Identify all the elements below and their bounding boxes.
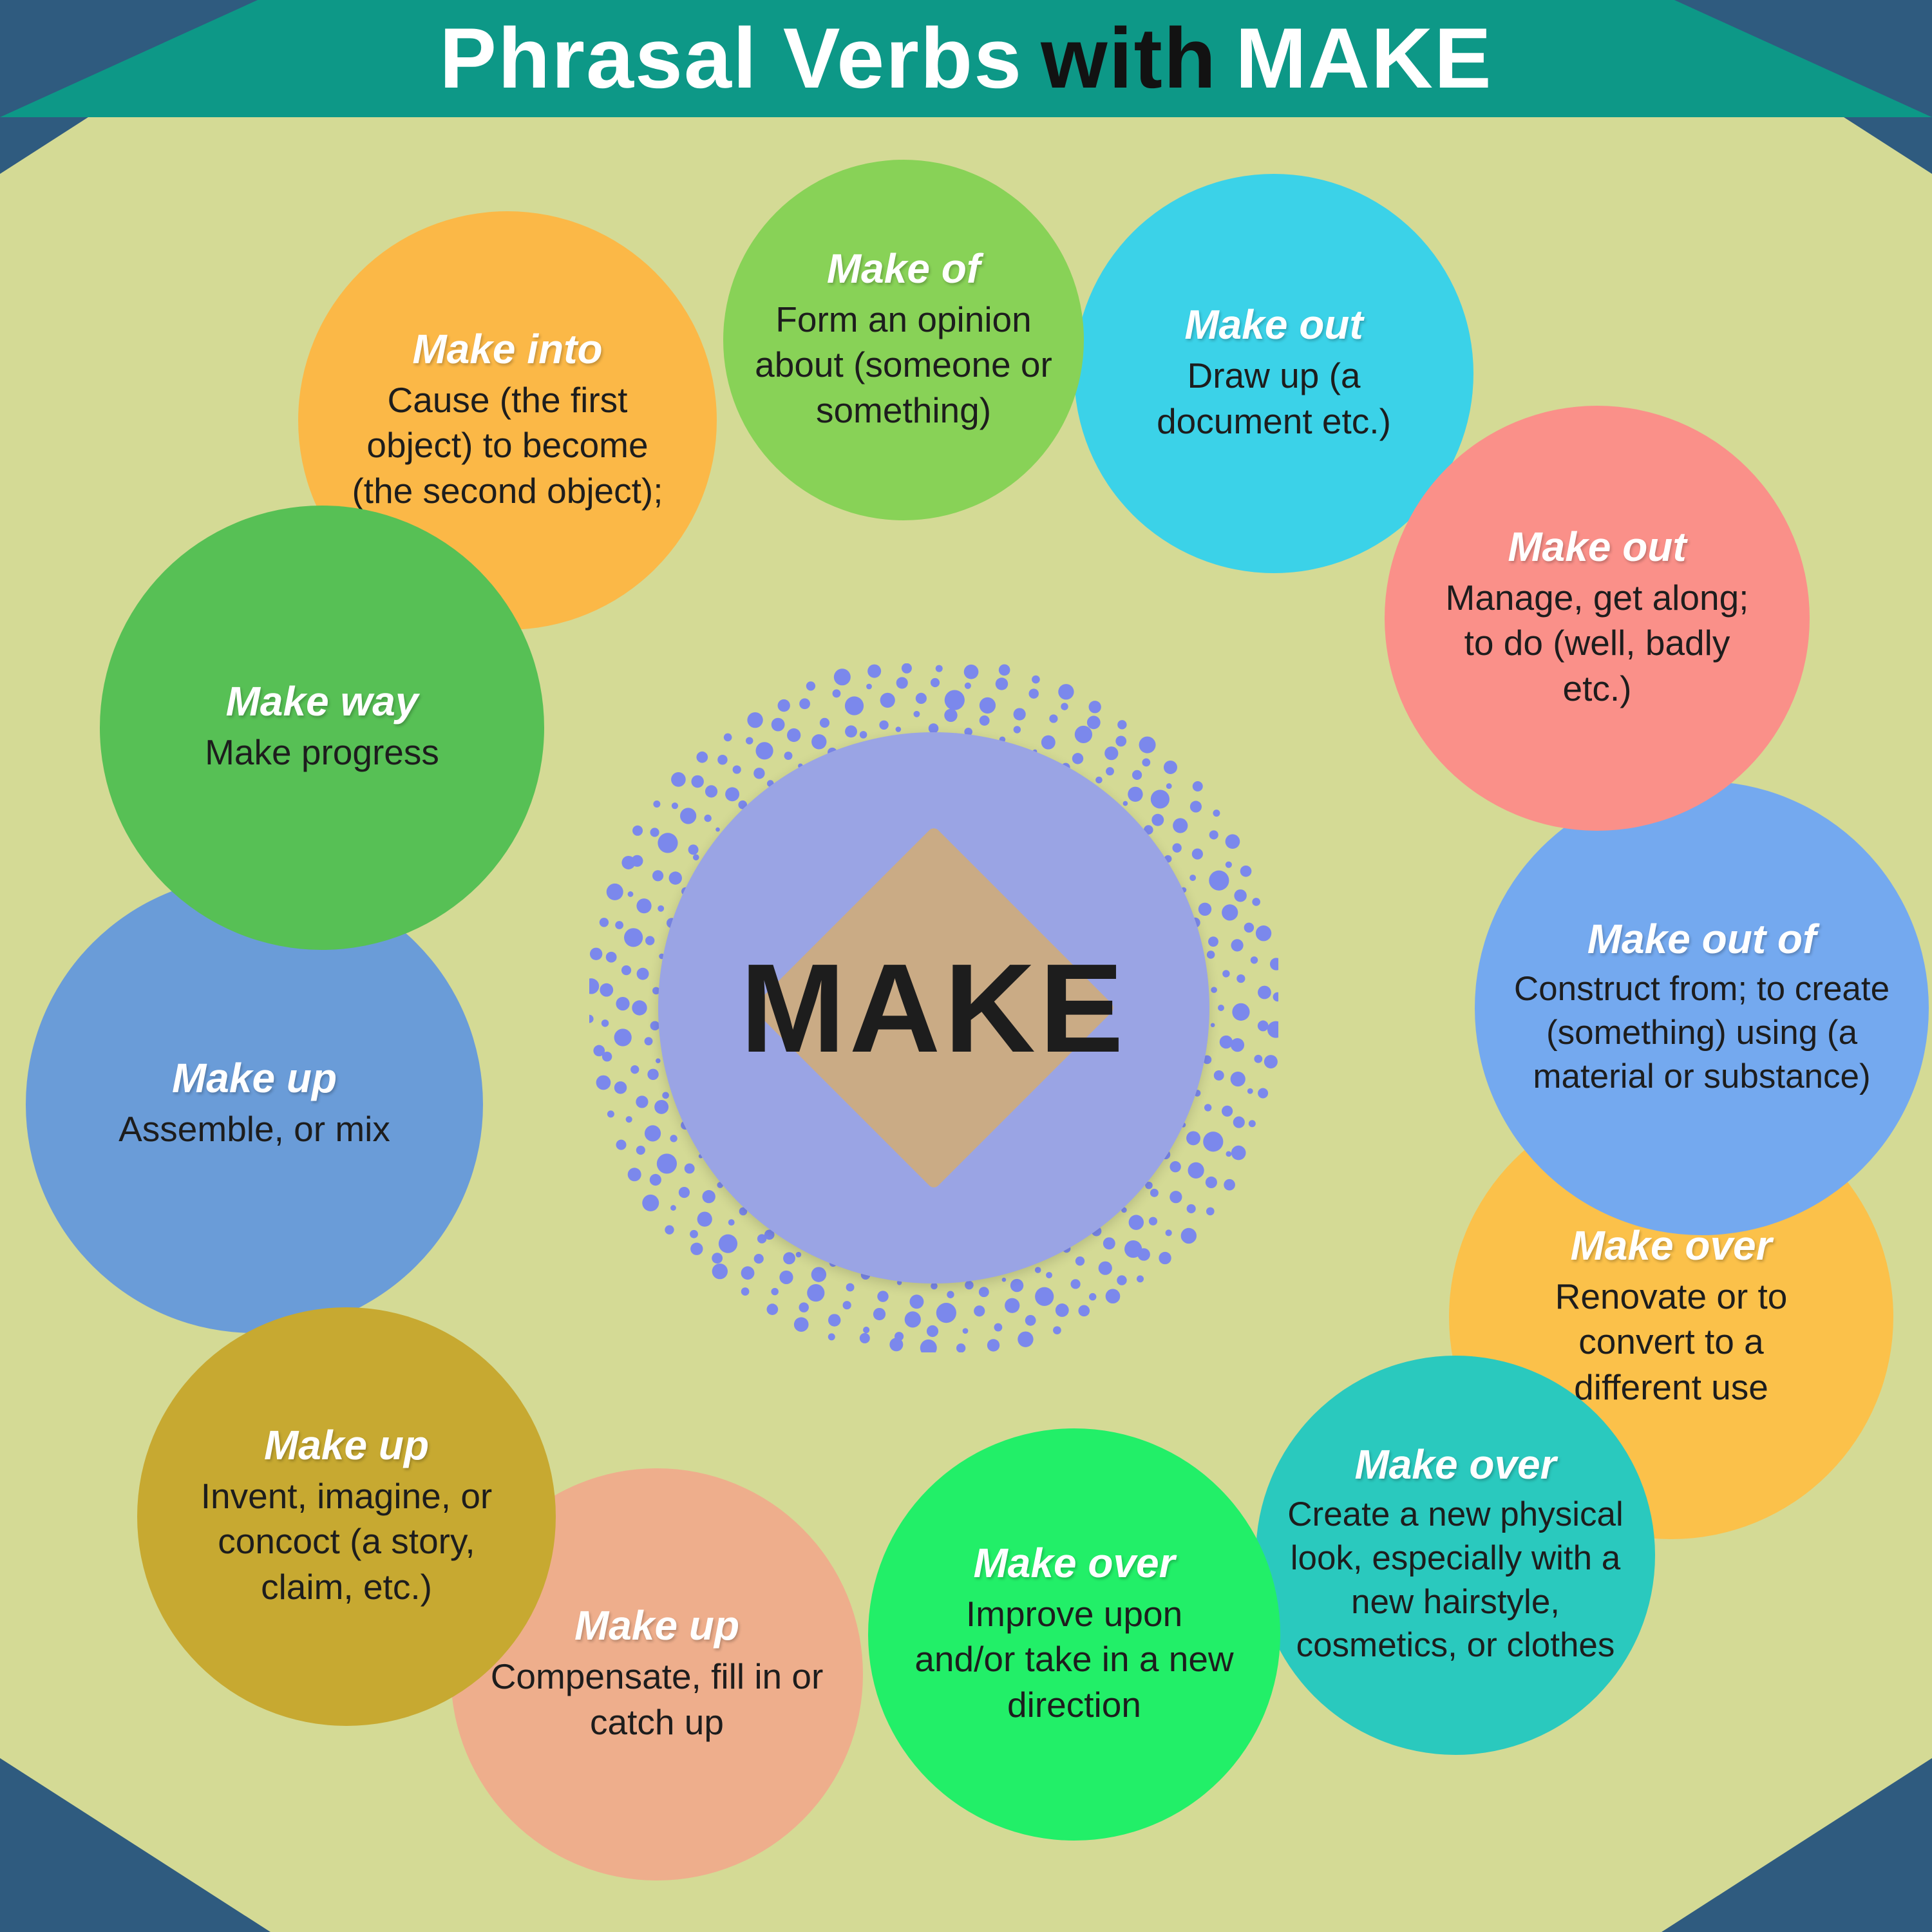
bubble-make-up-assemble[interactable]: Make up Assemble, or mix (26, 876, 483, 1333)
bubble-make-over-improve[interactable]: Make over Improve upon and/or take in a … (868, 1428, 1280, 1841)
title-part-2: with (1032, 10, 1226, 108)
bubble-definition: Make progress (205, 730, 439, 775)
bubble-term: Make over (1354, 1443, 1556, 1486)
bubble-term: Make up (264, 1424, 429, 1467)
bubble-definition: Draw up (a document etc.) (1151, 353, 1396, 444)
bubble-definition: Construct from; to create (something) us… (1492, 967, 1912, 1098)
bubble-make-over-look[interactable]: Make over Create a new physical look, es… (1256, 1356, 1655, 1755)
bubble-make-up-invent[interactable]: Make up Invent, imagine, or concoct (a s… (137, 1307, 556, 1726)
page-title: Phrasal Verbs with MAKE (0, 0, 1932, 117)
bubble-definition: Assemble, or mix (118, 1106, 390, 1151)
bubble-make-of[interactable]: Make of Form an opinion about (someone o… (723, 160, 1084, 520)
bubble-definition: Improve upon and/or take in a new direct… (913, 1591, 1235, 1727)
title-part-1: Phrasal Verbs (430, 10, 1032, 108)
bubble-term: Make up (172, 1057, 337, 1100)
bubble-definition: Form an opinion about (someone or someth… (746, 297, 1061, 433)
bubble-term: Make out (1184, 303, 1363, 346)
bubble-term: Make out of (1587, 918, 1817, 961)
bubble-term: Make out (1508, 526, 1686, 569)
bubble-definition: Create a new physical look, especially w… (1273, 1493, 1638, 1667)
title-part-3: MAKE (1226, 10, 1502, 108)
bubble-term: Make of (827, 247, 980, 290)
infographic-poster: Phrasal Verbs with MAKE Make into Cause … (0, 0, 1932, 1932)
bubble-term: Make up (574, 1604, 739, 1647)
bubble-term: Make into (412, 328, 602, 371)
bubble-make-out-of[interactable]: Make out of Construct from; to create (s… (1475, 781, 1929, 1235)
center-emblem: MAKE (589, 663, 1278, 1352)
bubble-make-way[interactable]: Make way Make progress (100, 506, 544, 950)
bubble-term: Make way (226, 680, 419, 723)
bubble-definition: Cause (the first object) to become (the … (346, 377, 668, 513)
bubble-term: Make over (973, 1542, 1175, 1585)
bubble-definition: Invent, imagine, or concoct (a story, cl… (185, 1473, 507, 1609)
center-label: MAKE (589, 663, 1278, 1352)
bubble-make-out-manage[interactable]: Make out Manage, get along; to do (well,… (1385, 406, 1810, 831)
bubble-definition: Compensate, fill in or catch up (468, 1654, 846, 1745)
bubble-definition: Manage, get along; to do (well, badly et… (1436, 575, 1758, 711)
